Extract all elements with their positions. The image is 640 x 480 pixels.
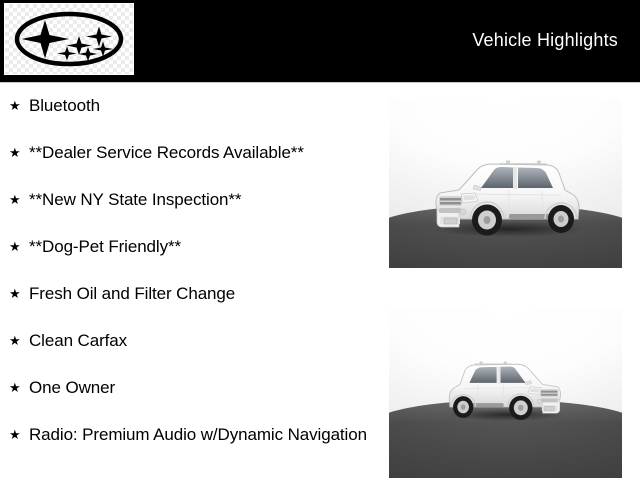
list-item: ★ Radio: Premium Audio w/Dynamic Navigat… [0,417,372,464]
list-item: ★ **Dog-Pet Friendly** [0,229,372,276]
list-item-label: Radio: Premium Audio w/Dynamic Navigatio… [29,417,368,446]
subaru-logo-icon [13,10,125,68]
star-bullet-icon: ★ [9,284,21,304]
list-item: ★ Bluetooth [0,88,372,135]
star-bullet-icon: ★ [9,425,21,445]
list-item-label: **Dealer Service Records Available** [29,135,368,164]
star-bullet-icon: ★ [9,143,21,163]
star-bullet-icon: ★ [9,190,21,210]
subaru-logo [4,3,134,75]
list-item: ★ **Dealer Service Records Available** [0,135,372,182]
list-item-label: **Dog-Pet Friendly** [29,229,368,258]
list-item-label: Bluetooth [29,88,368,117]
list-item: ★ Clean Carfax [0,323,372,370]
vehicle-photo-front-left[interactable] [389,98,622,268]
vehicle-photo-front-right[interactable] [389,308,622,478]
list-item-label: Fresh Oil and Filter Change [29,276,368,305]
list-item-label: **New NY State Inspection** [29,182,368,211]
page-header: Vehicle Highlights [0,0,640,82]
star-bullet-icon: ★ [9,96,21,116]
list-item: ★ Fresh Oil and Filter Change [0,276,372,323]
list-item-label: One Owner [29,370,368,399]
vehicle-image [389,144,622,240]
list-item: ★ One Owner [0,370,372,417]
suv-front-left-icon [411,144,601,240]
list-item: ★ **New NY State Inspection** [0,182,372,229]
vehicle-highlights-list: ★ Bluetooth ★ **Dealer Service Records A… [0,88,372,464]
star-bullet-icon: ★ [9,378,21,398]
suv-front-right-icon [432,348,580,424]
header-divider [0,82,640,83]
star-bullet-icon: ★ [9,331,21,351]
list-item-label: Clean Carfax [29,323,368,352]
page-title: Vehicle Highlights [472,29,618,51]
vehicle-image [389,348,622,424]
star-bullet-icon: ★ [9,237,21,257]
vehicle-highlights-page: Vehicle Highlights ★ Bluetooth ★ **Deale… [0,0,640,480]
